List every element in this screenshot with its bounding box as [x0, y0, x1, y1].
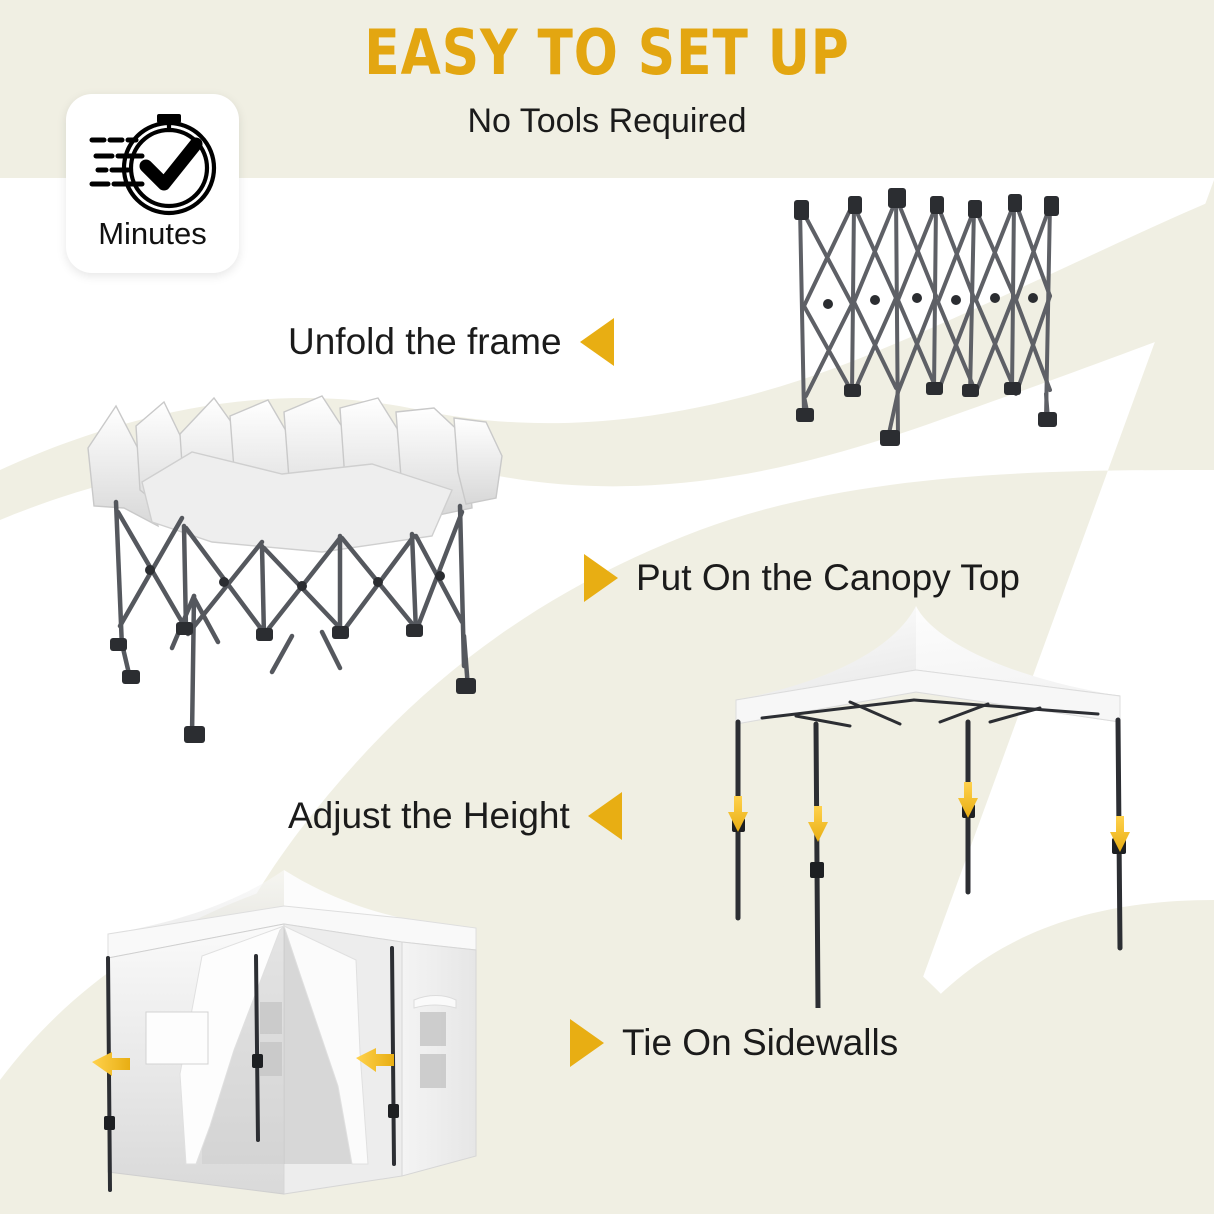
- draped-canopy-illustration: [72, 386, 508, 756]
- step-put-on-the-canopy-top: Put On the Canopy Top: [584, 554, 1020, 602]
- step-tie-on-sidewalls: Tie On Sidewalls: [570, 1019, 898, 1067]
- step-label: Tie On Sidewalls: [622, 1022, 898, 1064]
- step-label: Adjust the Height: [288, 795, 570, 837]
- stopwatch-check-icon: [80, 106, 225, 226]
- height-arrow-group: [728, 782, 1130, 852]
- frame-with-canopy-draped-photo: [72, 386, 508, 756]
- minutes-badge: Minutes: [66, 94, 239, 273]
- triangle-left-icon: [588, 792, 622, 840]
- sidewalls-canopy-illustration: [84, 864, 504, 1220]
- page-title: EASY TO SET UP: [42, 22, 1171, 84]
- scissor-frame-illustration: [778, 186, 1070, 464]
- badge-label: Minutes: [66, 216, 239, 252]
- collapsed-scissor-frame-photo: [778, 186, 1070, 464]
- step-adjust-the-height: Adjust the Height: [288, 792, 622, 840]
- step-label: Put On the Canopy Top: [636, 557, 1020, 599]
- infographic-canvas: EASY TO SET UP No Tools Required: [0, 0, 1214, 1214]
- erected-canopy-photo: [700, 596, 1168, 1008]
- step-label: Unfold the frame: [288, 321, 562, 363]
- triangle-left-icon: [580, 318, 614, 366]
- step-unfold-the-frame: Unfold the frame: [288, 318, 614, 366]
- triangle-right-icon: [570, 1019, 604, 1067]
- triangle-right-icon: [584, 554, 618, 602]
- erected-canopy-illustration: [700, 596, 1168, 1008]
- canopy-with-sidewalls-photo: [84, 864, 504, 1220]
